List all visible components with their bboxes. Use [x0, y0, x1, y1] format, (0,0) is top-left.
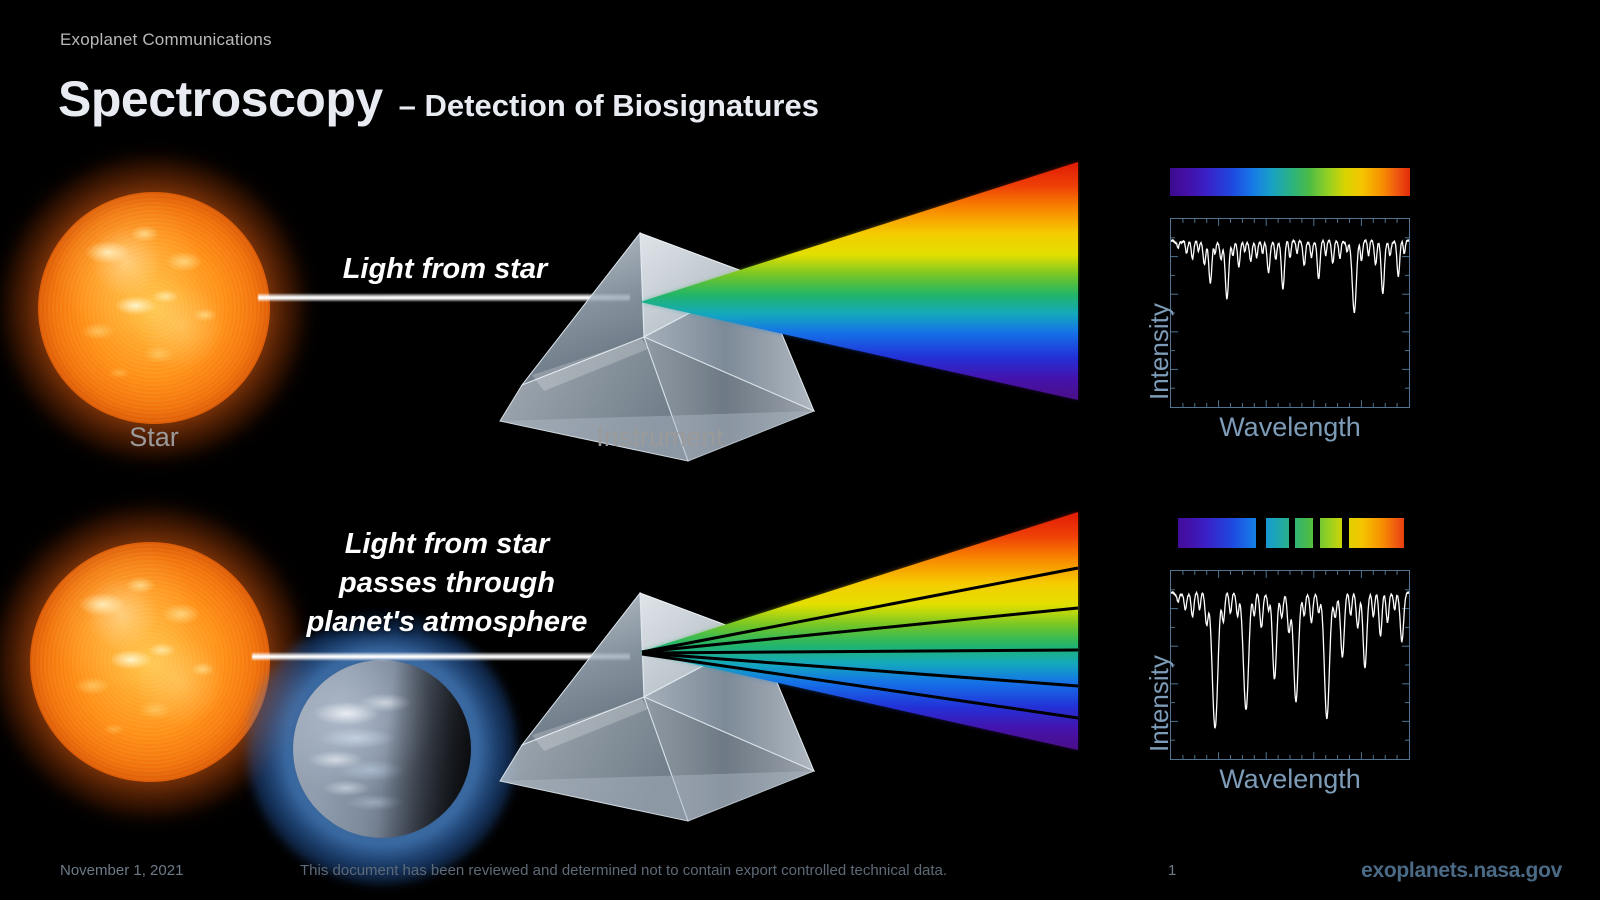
spectrum-plot-bottom: [1170, 570, 1410, 760]
spectrum-trace-top: [1171, 240, 1409, 313]
footer-disclaimer: This document has been reviewed and dete…: [300, 862, 947, 879]
planet-disc: [293, 660, 471, 838]
spectrum-absorption-band: [1342, 518, 1349, 548]
slide-root: Exoplanet Communications Spectroscopy – …: [0, 0, 1600, 900]
eyebrow-text: Exoplanet Communications: [60, 30, 272, 50]
planet-terminator-shadow: [293, 660, 471, 838]
spectrum-absorption-band: [1170, 518, 1178, 548]
star-disc: [38, 192, 270, 424]
title-subtitle: – Detection of Biosignatures: [399, 88, 819, 124]
spectrum-absorption-band: [1313, 518, 1320, 548]
footer-date: November 1, 2021: [60, 862, 183, 879]
spectrum-bar-bottom: [1170, 518, 1410, 548]
axis-label-wavelength-bottom: Wavelength: [1170, 764, 1410, 795]
panel-no-atmosphere: Star Light from star: [0, 150, 1600, 480]
panel-with-atmosphere: Light from star passes through planet's …: [0, 500, 1600, 850]
star-disc: [30, 542, 270, 782]
footer-url: exoplanets.nasa.gov: [1361, 859, 1562, 883]
star-top: [38, 192, 270, 424]
dispersed-light-fan-top: [620, 150, 1080, 430]
spectrum-absorption-band: [1404, 518, 1410, 548]
dispersed-light-fan-bottom: [620, 510, 1080, 790]
axis-label-wavelength-top: Wavelength: [1170, 412, 1410, 443]
spectrum-trace-bottom: [1171, 592, 1409, 728]
footer-page-number: 1: [1168, 862, 1176, 879]
spectrum-absorption-band: [1256, 518, 1266, 548]
star-limb-darkening: [38, 192, 270, 424]
star-label-top: Star: [38, 422, 270, 453]
spectrum-absorption-band: [1289, 518, 1295, 548]
spectrum-plot-top: [1170, 218, 1410, 408]
footer: November 1, 2021 This document has been …: [0, 854, 1600, 900]
spectrum-bar-gradient: [1170, 168, 1410, 196]
axis-label-intensity-bottom: Intensity: [1144, 655, 1175, 752]
plot-tick-marks: [1171, 571, 1409, 759]
exoplanet: [293, 660, 471, 838]
spectrum-bar-top: [1170, 168, 1410, 196]
axis-label-intensity-top: Intensity: [1144, 303, 1175, 400]
star-limb-darkening: [30, 542, 270, 782]
star-bottom: [30, 542, 270, 782]
title-main: Spectroscopy: [58, 70, 383, 128]
page-title: Spectroscopy – Detection of Biosignature…: [58, 70, 819, 128]
